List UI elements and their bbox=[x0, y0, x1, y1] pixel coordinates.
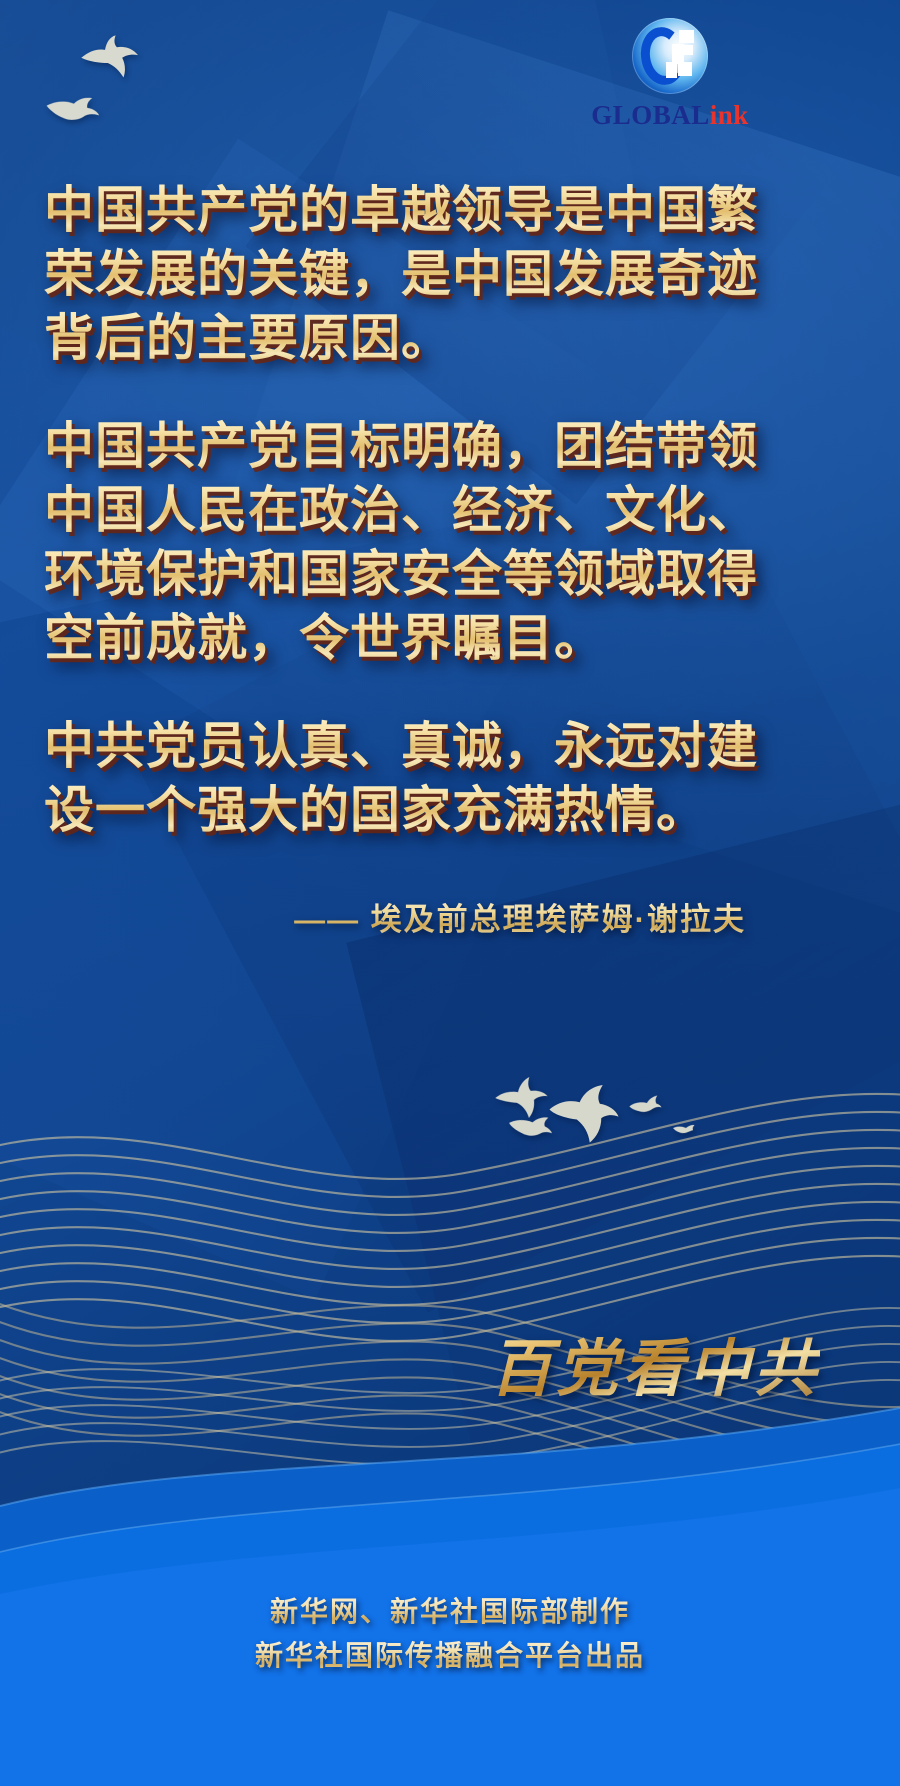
paragraph-spacer bbox=[44, 670, 764, 714]
quote-line: 中共党员认真、真诚，永远对建 bbox=[44, 714, 764, 778]
quote-line: 背后的主要原因。 bbox=[44, 306, 764, 370]
quote-line: 空前成就，令世界瞩目。 bbox=[44, 606, 764, 670]
dove-icon bbox=[42, 88, 104, 131]
quote-line: 环境保护和国家安全等领域取得 bbox=[44, 542, 764, 606]
quote-line: 设一个强大的国家充满热情。 bbox=[44, 778, 764, 842]
quote-line: 荣发展的关键，是中国发展奇迹 bbox=[44, 242, 764, 306]
paragraph-spacer bbox=[44, 370, 764, 414]
quote-attribution: —— 埃及前总理埃萨姆·谢拉夫 bbox=[44, 894, 764, 939]
footer-line-2: 新华社国际传播融合平台出品 bbox=[0, 1634, 900, 1678]
globe-pixel-icon bbox=[632, 18, 708, 94]
logo-text-primary: GLOBAL bbox=[591, 100, 710, 130]
globallink-logo: GLOBALink bbox=[580, 18, 760, 131]
dove-icon bbox=[76, 34, 142, 80]
quote-block: 中国共产党的卓越领导是中国繁 荣发展的关键，是中国发展奇迹 背后的主要原因。 中… bbox=[44, 178, 764, 939]
quote-line: 中国共产党的卓越领导是中国繁 bbox=[44, 178, 764, 242]
footer-line-1: 新华网、新华社国际部制作 bbox=[0, 1590, 900, 1634]
logo-text-secondary: ink bbox=[710, 100, 749, 130]
quote-line: 中国人民在政治、经济、文化、 bbox=[44, 478, 764, 542]
bottom-sweep-decoration bbox=[0, 1356, 900, 1786]
logo-wordmark: GLOBALink bbox=[580, 100, 760, 131]
footer-credits: 新华网、新华社国际部制作 新华社国际传播融合平台出品 bbox=[0, 1590, 900, 1678]
calligraphy-seal: 百党看中共 bbox=[490, 1318, 820, 1408]
poster-canvas: GLOBALink 中国共产党的卓越领导是中国繁 荣发展的关键，是中国发展奇迹 … bbox=[0, 0, 900, 1786]
quote-line: 中国共产党目标明确，团结带领 bbox=[44, 414, 764, 478]
